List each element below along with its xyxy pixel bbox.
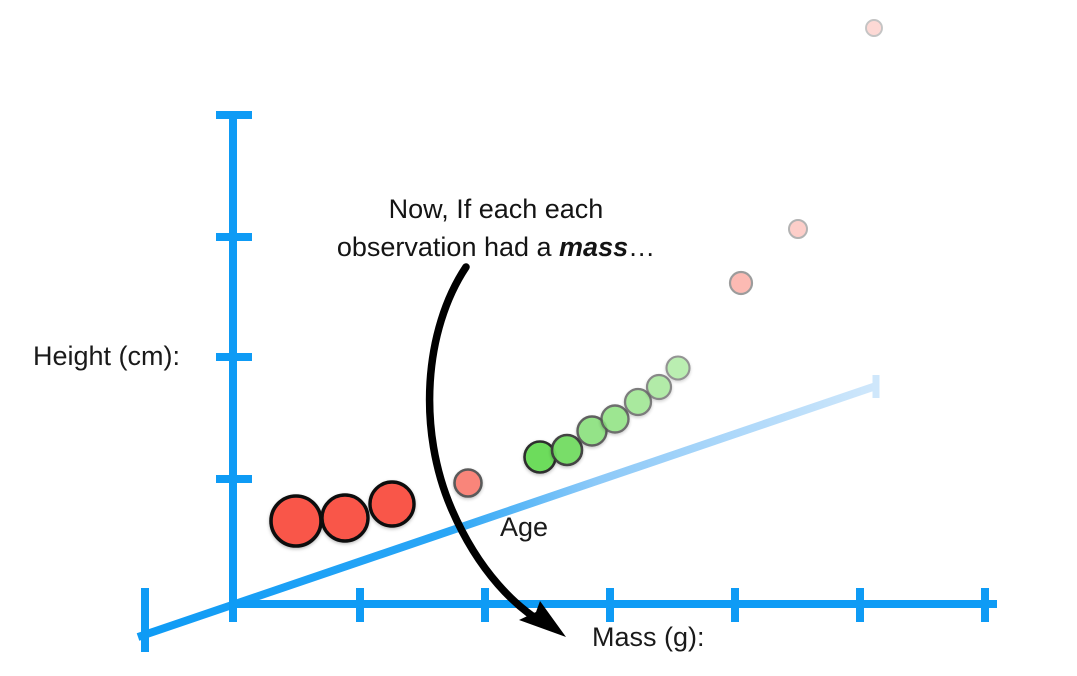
scatter-plot-svg	[0, 0, 1077, 676]
callout-line-2-suffix: …	[628, 232, 655, 262]
data-point	[455, 470, 482, 497]
y-axis-title: Height (cm):	[33, 343, 180, 370]
data-point	[667, 357, 690, 380]
data-point	[552, 435, 582, 465]
data-point	[322, 495, 368, 541]
callout-line-2-prefix: observation had a	[337, 232, 559, 262]
trendline-label: Age	[500, 514, 548, 541]
x-axis-title: Mass (g):	[592, 624, 705, 651]
callout-emphasis-mass: mass	[559, 232, 628, 262]
red-observations-group	[271, 20, 882, 546]
callout-line-1: Now, If each each	[296, 190, 696, 228]
mass-callout-text: Now, If each each observation had a mass…	[296, 190, 696, 267]
data-point	[730, 272, 752, 294]
data-point	[525, 442, 556, 473]
callout-line-2: observation had a mass…	[296, 228, 696, 266]
chart-canvas: Height (cm): Mass (g): Age Now, If each …	[0, 0, 1077, 676]
data-point	[370, 482, 414, 526]
data-point	[602, 406, 629, 433]
data-point	[789, 220, 807, 238]
data-point	[271, 496, 321, 546]
data-point	[647, 375, 671, 399]
data-point	[866, 20, 882, 36]
data-point	[625, 389, 651, 415]
